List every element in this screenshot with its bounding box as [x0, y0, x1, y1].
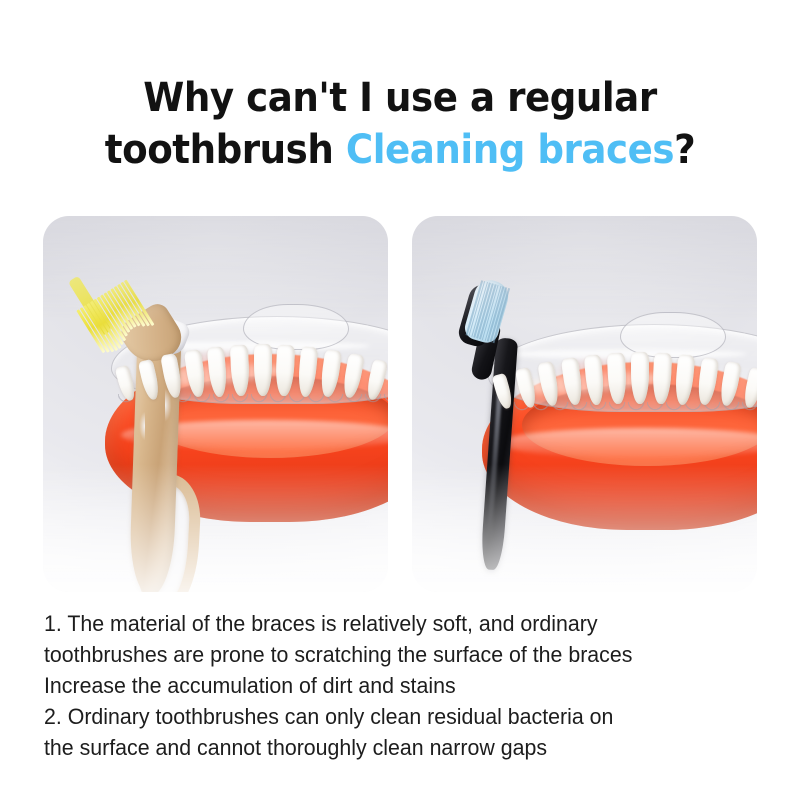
- panel-right-content: [412, 216, 757, 592]
- page-title-line-2-prefix: toothbrush: [105, 127, 346, 173]
- point-2-line-1: 2. Ordinary toothbrushes can only clean …: [44, 701, 752, 732]
- tooth: [631, 352, 649, 404]
- page-title-line-2-suffix: ?: [674, 127, 695, 173]
- tooth: [254, 344, 272, 396]
- page-title-accent: Cleaning braces: [346, 127, 674, 173]
- regular-toothbrush: [448, 280, 558, 580]
- page-title: Why can't I use a regular toothbrush Cle…: [28, 72, 772, 176]
- point-1-line-3: Increase the accumulation of dirt and st…: [44, 670, 752, 701]
- brush-handle-waist-left: [129, 406, 145, 446]
- point-1-line-1: 1. The material of the braces is relativ…: [44, 608, 752, 639]
- image-panel-left: [43, 216, 388, 592]
- panel-left-content: [43, 216, 388, 592]
- page-title-line-1: Why can't I use a regular: [28, 72, 772, 124]
- image-panel-right: [412, 216, 757, 592]
- point-1-line-2: toothbrushes are prone to scratching the…: [44, 639, 752, 670]
- description-text: 1. The material of the braces is relativ…: [44, 608, 752, 763]
- toothbrush-bristles-blue: [462, 277, 512, 346]
- denture-brush: [91, 278, 221, 592]
- point-2-line-2: the surface and cannot thoroughly clean …: [44, 732, 752, 763]
- page-title-line-2: toothbrush Cleaning braces?: [28, 124, 772, 176]
